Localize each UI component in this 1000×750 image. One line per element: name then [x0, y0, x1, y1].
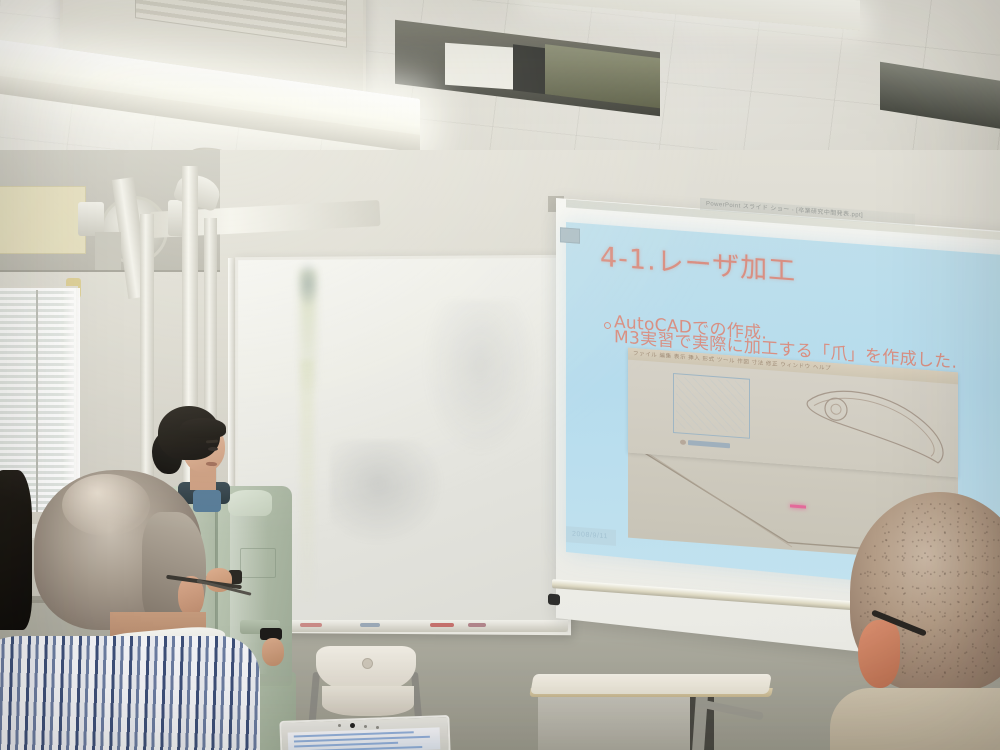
- notice-paper: [0, 186, 86, 254]
- cad-toolbar-handle: [680, 440, 686, 445]
- whiteboard-erased-mark-b: [330, 440, 450, 550]
- screen-bar-endcap-left: [548, 594, 560, 606]
- audience-member-far-left: [0, 470, 32, 630]
- blind-cord[interactable]: [36, 290, 38, 512]
- cad-claw-svg: [798, 378, 953, 470]
- presenter-mouth: [206, 462, 217, 467]
- whiteboard-streak-lower: [300, 360, 314, 600]
- audience-left-scalp: [62, 474, 150, 536]
- whiteboard-marker[interactable]: [300, 623, 322, 627]
- laptop-webcam-icon: [350, 723, 355, 728]
- slide-corner-marker: [560, 227, 580, 243]
- audience-right-ear: [858, 620, 900, 688]
- table-modesty-panel: [538, 696, 690, 750]
- folding-table[interactable]: [530, 674, 772, 694]
- presenter-hand-right: [262, 638, 284, 666]
- whiteboard-marker[interactable]: [430, 623, 454, 627]
- ac-grille: [135, 0, 347, 48]
- laptop-bezel-dot: [364, 725, 367, 728]
- audience-left-striped-shirt: [0, 636, 260, 750]
- audience-right-shirt: [830, 688, 1000, 750]
- whiteboard-marker[interactable]: [360, 623, 380, 627]
- whiteboard-erased-mark-a: [420, 300, 540, 460]
- presenter-fringe: [180, 418, 226, 438]
- whiteboard-marker[interactable]: [468, 623, 486, 627]
- classroom-presentation-photo: PowerPoint スライド ショー - [卒業研究中間発表.ppt] 4-1…: [0, 0, 1000, 750]
- ceiling-duct-green: [545, 44, 660, 108]
- pipe-joint: [78, 202, 104, 236]
- presenter-eye: [208, 447, 218, 451]
- cad-claw-drawing: [798, 378, 953, 470]
- laptop-bezel-dot: [376, 726, 379, 729]
- chair-knob: [362, 658, 373, 669]
- cad-toolbar-strip: [688, 440, 730, 448]
- chair-seat[interactable]: [322, 686, 414, 716]
- whiteboard-stain: [296, 260, 320, 308]
- laptop-bezel-dot: [338, 724, 341, 727]
- presenter-coverall-pocket: [240, 548, 276, 578]
- presenter-shoulder: [228, 490, 272, 516]
- cad-hatch-fill: [676, 376, 745, 433]
- slide-bullet-icon: [604, 322, 611, 330]
- pipe-bracket: [95, 232, 121, 270]
- presenter-shirt: [193, 490, 221, 512]
